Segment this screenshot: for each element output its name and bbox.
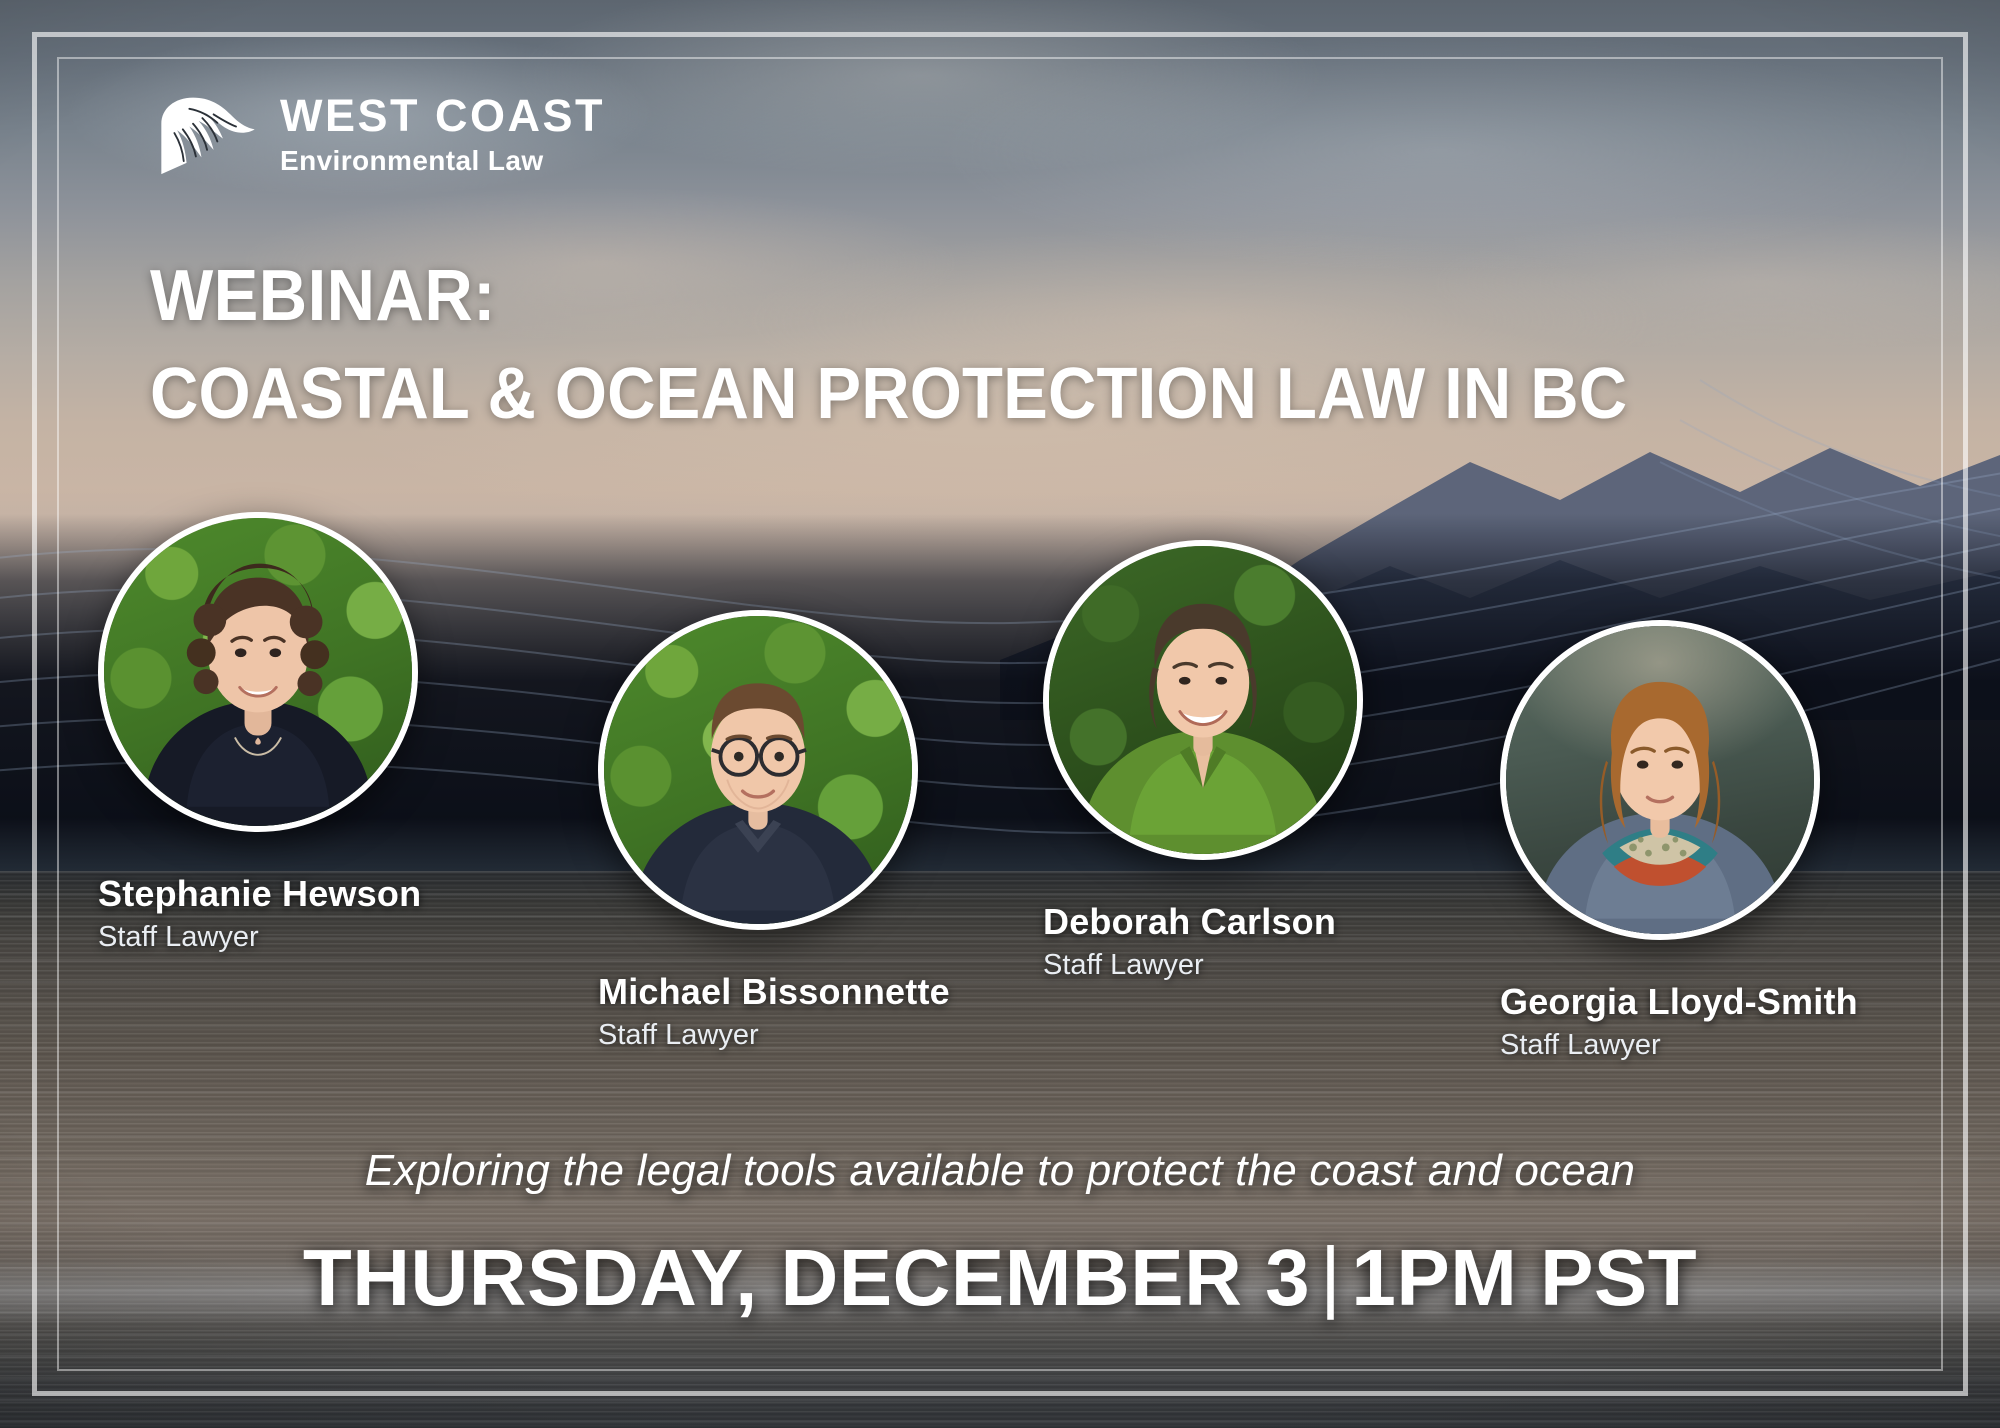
speaker-text: Stephanie Hewson Staff Lawyer bbox=[98, 874, 421, 955]
speaker-card-georgia-lloyd-smith: Georgia Lloyd-Smith Staff Lawyer bbox=[1500, 620, 1858, 1063]
avatar bbox=[98, 512, 418, 832]
speaker-text: Michael Bissonnette Staff Lawyer bbox=[598, 972, 950, 1053]
portrait-person bbox=[1049, 546, 1357, 854]
speaker-text: Georgia Lloyd-Smith Staff Lawyer bbox=[1500, 982, 1858, 1063]
speaker-role: Staff Lawyer bbox=[98, 920, 421, 955]
event-datetime: THURSDAY, DECEMBER 3|1PM PST bbox=[0, 1232, 2000, 1324]
event-separator: | bbox=[1310, 1230, 1351, 1322]
speaker-role: Staff Lawyer bbox=[598, 1018, 950, 1053]
speaker-role: Staff Lawyer bbox=[1043, 948, 1363, 983]
speaker-name: Georgia Lloyd-Smith bbox=[1500, 982, 1858, 1022]
speaker-card-michael-bissonnette: Michael Bissonnette Staff Lawyer bbox=[598, 610, 950, 1053]
tagline: Exploring the legal tools available to p… bbox=[0, 1146, 2000, 1196]
speaker-name: Michael Bissonnette bbox=[598, 972, 950, 1012]
avatar bbox=[598, 610, 918, 930]
speaker-card-stephanie-hewson: Stephanie Hewson Staff Lawyer bbox=[98, 512, 421, 955]
speaker-card-deborah-carlson: Deborah Carlson Staff Lawyer bbox=[1043, 540, 1363, 983]
event-time: 1PM PST bbox=[1351, 1233, 1697, 1322]
speaker-name: Stephanie Hewson bbox=[98, 874, 421, 914]
avatar bbox=[1500, 620, 1820, 940]
portrait-person bbox=[104, 518, 412, 826]
speaker-text: Deborah Carlson Staff Lawyer bbox=[1043, 902, 1363, 983]
event-day-date: THURSDAY, DECEMBER 3 bbox=[303, 1233, 1310, 1322]
speaker-name: Deborah Carlson bbox=[1043, 902, 1363, 942]
speakers-row: Stephanie Hewson Staff Lawyer bbox=[0, 0, 2000, 1428]
speaker-role: Staff Lawyer bbox=[1500, 1028, 1858, 1063]
webinar-poster: WEST COAST Environmental Law WEBINAR: CO… bbox=[0, 0, 2000, 1428]
poster-content: WEST COAST Environmental Law WEBINAR: CO… bbox=[0, 0, 2000, 1428]
portrait-person bbox=[1506, 626, 1814, 934]
avatar bbox=[1043, 540, 1363, 860]
portrait-person bbox=[604, 616, 912, 924]
